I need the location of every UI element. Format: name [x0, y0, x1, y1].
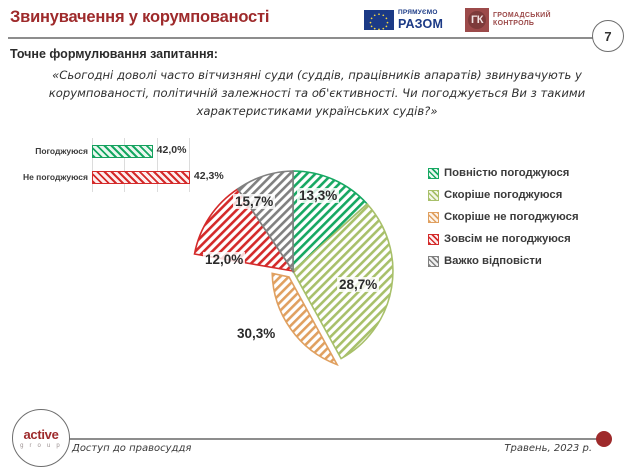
results-pie-chart: 13,3% 28,7% 30,3% 12,0% 15,7%	[185, 158, 405, 388]
pie-svg	[185, 158, 405, 388]
pie-label-fully-disagree: 12,0%	[203, 252, 245, 267]
bar-row: Не погоджуюся 42,3%	[8, 168, 190, 186]
eu-logo-line1: ПРЯМУЄМО	[398, 10, 443, 17]
public-control-logo: ГК ГРОМАДСЬКИЙ КОНТРОЛЬ	[465, 8, 551, 32]
bar-value-label: 42,0%	[157, 144, 187, 156]
legend-swatch-red	[428, 234, 439, 245]
summary-bar-chart: Погоджуюся 42,0% Не погоджуюся 42,3%	[8, 140, 190, 190]
bar-category-label: Не погоджуюся	[8, 172, 92, 182]
question-label: Точне формулювання запитання:	[10, 47, 218, 61]
footer-date: Травень, 2023 р.	[500, 443, 592, 454]
bar-disagree	[92, 171, 190, 184]
active-group-logo: active g r o u p	[12, 409, 70, 467]
legend-item-hard-to-answer: Важко відповісти	[428, 254, 608, 268]
eu-logo-line2: РАЗОМ	[398, 18, 443, 31]
eu-stars-icon	[364, 10, 394, 30]
legend-label: Повністю погоджуюся	[444, 166, 569, 180]
eu-flag-icon	[364, 10, 394, 30]
active-group-name: active	[23, 428, 58, 441]
pie-label-hard-to-answer: 15,7%	[233, 194, 275, 209]
legend-label: Скоріше погоджуюся	[444, 188, 562, 202]
question-text: «Сьогодні доволі часто вітчизняні суди (…	[42, 67, 592, 121]
gk-logo-line2: КОНТРОЛЬ	[493, 20, 551, 28]
legend-swatch-light-green	[428, 190, 439, 201]
footer-dot-accent	[596, 431, 612, 447]
legend-swatch-gray	[428, 256, 439, 267]
pie-label-rather-disagree: 30,3%	[235, 326, 277, 341]
bar-agree	[92, 145, 153, 158]
legend-item-rather-disagree: Скоріше не погоджуюся	[428, 210, 608, 224]
bar-category-label: Погоджуюся	[8, 146, 92, 156]
page-number-badge: 7	[592, 20, 624, 52]
legend-swatch-green	[428, 168, 439, 179]
bar-row: Погоджуюся 42,0%	[8, 142, 190, 160]
bar-track: 42,3%	[92, 170, 190, 185]
legend-label: Зовсім не погоджуюся	[444, 232, 571, 246]
legend-label: Важко відповісти	[444, 254, 542, 268]
pie-label-rather-agree: 28,7%	[337, 277, 379, 292]
footer-divider	[62, 438, 602, 440]
gk-mark-icon: ГК	[465, 8, 489, 32]
legend-item-fully-disagree: Зовсім не погоджуюся	[428, 232, 608, 246]
gk-logo-line1: ГРОМАДСЬКИЙ	[493, 12, 551, 20]
legend-item-rather-agree: Скоріше погоджуюся	[428, 188, 608, 202]
legend-label: Скоріше не погоджуюся	[444, 210, 579, 224]
eu-program-logo: ПРЯМУЄМО РАЗОМ	[364, 10, 443, 30]
pie-label-fully-agree: 13,3%	[297, 188, 339, 203]
header-divider	[8, 37, 593, 39]
legend-item-fully-agree: Повністю погоджуюся	[428, 166, 608, 180]
footer-project-name: Доступ до правосуддя	[72, 443, 191, 454]
gk-monogram: ГК	[465, 8, 489, 32]
pie-legend: Повністю погоджуюся Скоріше погоджуюся С…	[428, 166, 608, 277]
page-title: Звинувачення у корумпованості	[10, 8, 269, 27]
legend-swatch-orange	[428, 212, 439, 223]
bar-track: 42,0%	[92, 144, 190, 159]
active-group-subtitle: g r o u p	[20, 443, 62, 449]
